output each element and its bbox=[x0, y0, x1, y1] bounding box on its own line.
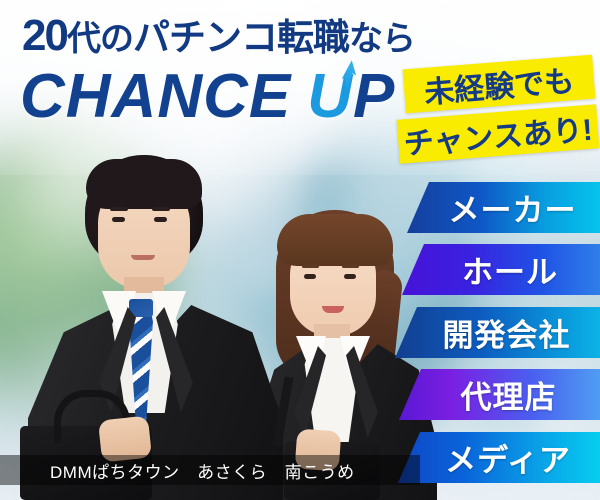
logo-p-letter: P bbox=[353, 62, 395, 131]
people-photo bbox=[0, 140, 430, 500]
woman-eyebrow-right bbox=[342, 265, 359, 268]
woman-eye-left bbox=[304, 274, 316, 279]
headline-age-suffix: 代の bbox=[67, 20, 133, 58]
chance-up-logo: CHANCEUP bbox=[20, 66, 395, 128]
category-button-development-company[interactable]: 開発会社 bbox=[395, 307, 600, 358]
category-button-hall[interactable]: ホール bbox=[402, 244, 600, 295]
woman-mouth bbox=[322, 306, 344, 313]
category-button-maker[interactable]: メーカー bbox=[407, 182, 600, 233]
man-fringe bbox=[86, 159, 202, 209]
credit-text: DMMぱちタウン あさくら 南こうめ bbox=[0, 458, 355, 483]
headline-main: パチンコ転職 bbox=[133, 17, 349, 58]
man-eye-left bbox=[112, 217, 125, 222]
woman-eyebrow-left bbox=[302, 265, 319, 268]
man-eyebrow-left bbox=[110, 207, 128, 211]
man-eye-right bbox=[154, 217, 167, 222]
man-mouth bbox=[131, 255, 155, 260]
logo-word-up: UP bbox=[307, 62, 395, 131]
page-title: 20代のパチンコ転職なら bbox=[22, 14, 415, 58]
recruitment-banner: 20代のパチンコ転職なら CHANCEUP 未経験でも チャンスあり! メーカー… bbox=[0, 0, 600, 500]
man-eyebrow-right bbox=[152, 207, 170, 211]
headline-tail: なら bbox=[349, 20, 415, 58]
logo-u-letter: U bbox=[307, 66, 353, 128]
woman-fringe bbox=[277, 214, 393, 266]
category-button-media[interactable]: メディア bbox=[398, 432, 600, 483]
headline-age-number: 20 bbox=[22, 11, 67, 60]
logo-word-chance: CHANCE bbox=[20, 62, 291, 131]
category-button-agency[interactable]: 代理店 bbox=[399, 369, 600, 420]
woman-eye-right bbox=[344, 274, 356, 279]
credit-bar: DMMぱちタウン あさくら 南こうめ bbox=[0, 455, 420, 485]
